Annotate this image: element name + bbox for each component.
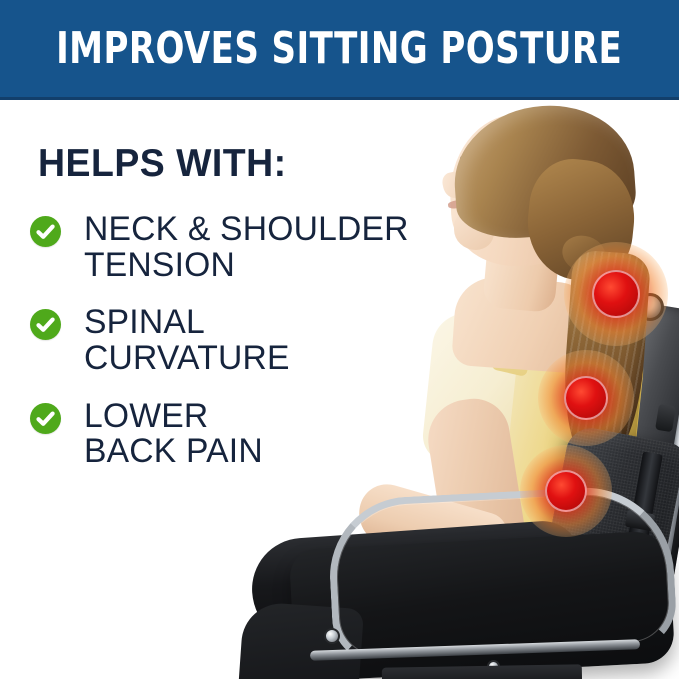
mid-back-pain-point	[538, 350, 634, 446]
pain-core	[592, 270, 640, 318]
benefit-line: LOWER	[84, 399, 417, 435]
benefit-line: BACK PAIN	[84, 434, 417, 470]
benefit-line: TENSION	[84, 248, 417, 284]
header-banner: IMPROVES SITTING POSTURE	[0, 0, 679, 100]
benefit-text: LOWER BACK PAIN	[84, 399, 417, 470]
benefit-text: NECK & SHOULDER TENSION	[84, 212, 417, 283]
pain-core	[564, 376, 608, 420]
benefit-line: SPINAL	[84, 305, 417, 341]
lower-back-pain-point	[520, 445, 612, 537]
pain-core	[545, 470, 587, 512]
benefit-line: CURVATURE	[84, 341, 417, 377]
list-item: NECK & SHOULDER TENSION	[30, 212, 420, 283]
benefits-copy-block: HELPS WITH: NECK & SHOULDER TENSION	[0, 100, 420, 679]
neck-shoulder-pain-point	[564, 242, 668, 346]
benefits-list: NECK & SHOULDER TENSION SPINAL CURVATURE	[30, 212, 420, 492]
benefit-text: SPINAL CURVATURE	[84, 305, 417, 376]
list-item: LOWER BACK PAIN	[30, 399, 420, 470]
list-item: SPINAL CURVATURE	[30, 305, 420, 376]
check-circle-icon	[30, 309, 61, 340]
helps-with-heading: HELPS WITH:	[38, 144, 287, 183]
check-circle-icon	[30, 403, 61, 434]
benefit-line: NECK & SHOULDER	[84, 212, 417, 248]
product-infographic: IMPROVES SITTING POSTURE	[0, 0, 679, 679]
check-circle-icon	[30, 216, 61, 247]
banner-title: IMPROVES SITTING POSTURE	[56, 27, 622, 71]
